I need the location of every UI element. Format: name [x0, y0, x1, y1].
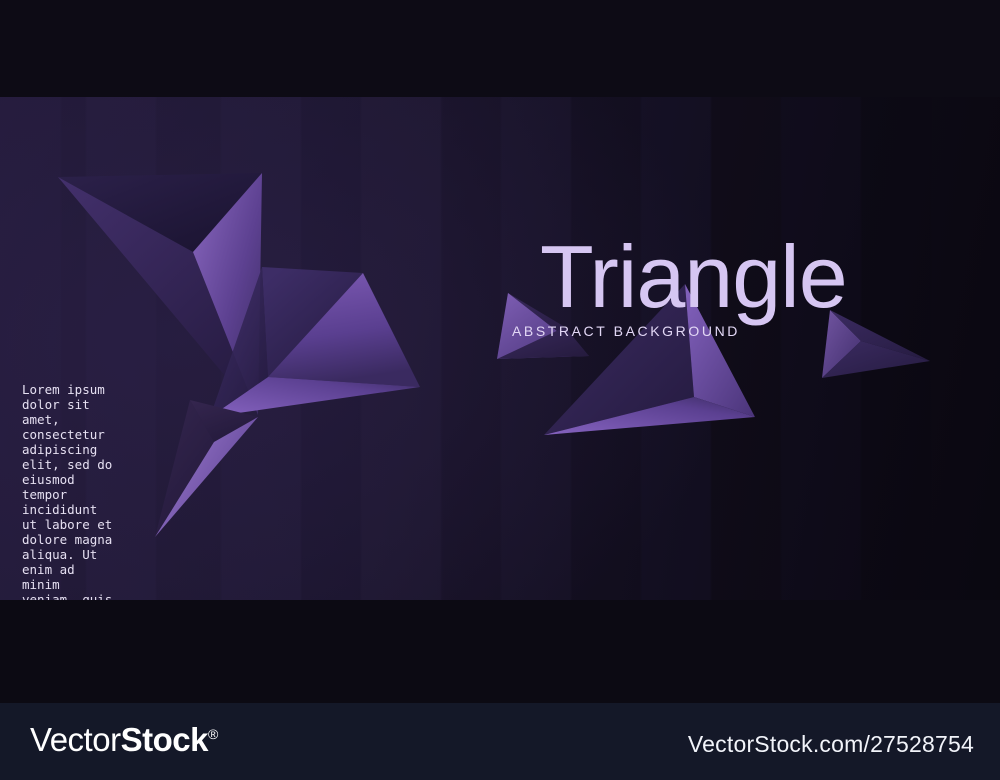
triangle-shapes-group — [0, 97, 1000, 600]
logo-text-light: Vector — [30, 721, 121, 758]
triangle-shape-lower-left — [155, 400, 258, 537]
logo-text-bold: Stock — [121, 721, 208, 758]
letterbox-bottom — [0, 600, 1000, 703]
vectorstock-logo: VectorStock® — [30, 721, 218, 759]
side-paragraph: Lorem ipsum dolor sit amet, consectetur … — [22, 382, 118, 600]
footer-url: VectorStock.com/27528754 — [688, 731, 974, 758]
registered-trademark-icon: ® — [208, 726, 218, 742]
page-title: Triangle — [540, 233, 847, 321]
artwork-canvas: Triangle ABSTRACT BACKGROUND Lorem ipsum… — [0, 97, 1000, 600]
letterbox-top — [0, 0, 1000, 97]
preview-page: Triangle ABSTRACT BACKGROUND Lorem ipsum… — [0, 0, 1000, 780]
page-subtitle: ABSTRACT BACKGROUND — [440, 323, 740, 339]
